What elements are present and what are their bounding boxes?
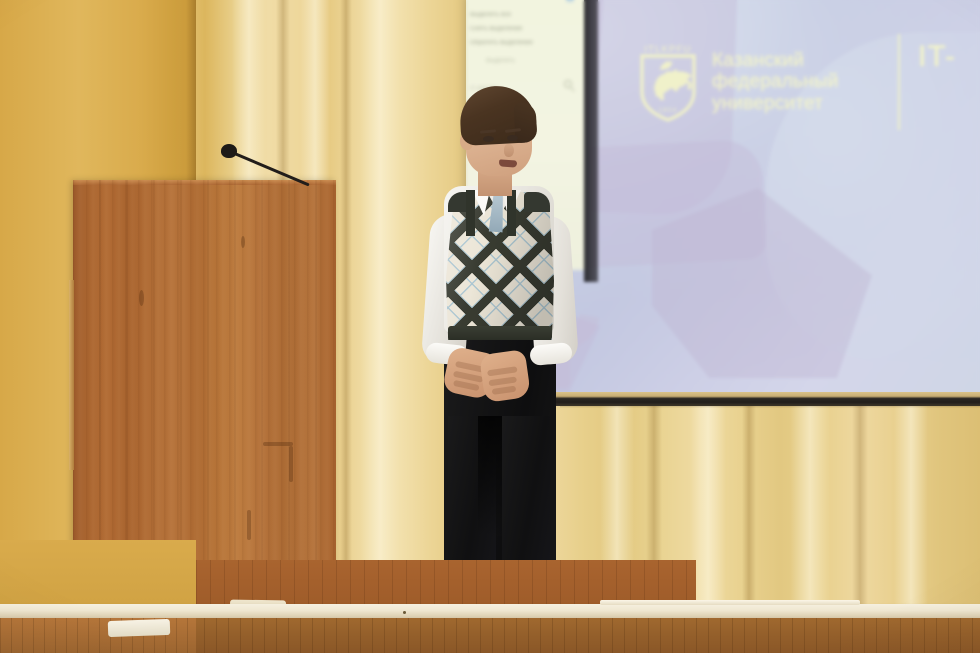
logo-divider-rule xyxy=(898,34,900,130)
kfu-winged-leopard-shield-icon: ITLKPFU 1804 xyxy=(638,42,698,122)
kfu-logo-lockup: ITLKPFU 1804 Казанский федеральный униве… xyxy=(638,42,839,122)
svg-text:ITLKPFU: ITLKPFU xyxy=(644,44,691,55)
trouser-shadow xyxy=(478,416,502,536)
slide-secondary-text: IT- xyxy=(918,40,956,74)
right-shirt-cuff xyxy=(529,342,573,366)
menu-item-invert-selection: Обратить выделение xyxy=(470,40,533,46)
menu-item-select-disabled: Выделить xyxy=(486,58,515,64)
menu-item-deselect: Снять выделение xyxy=(470,26,522,32)
rail-screw xyxy=(403,611,406,614)
young-presenter xyxy=(404,86,594,632)
kfu-name-line-3: университет xyxy=(712,93,839,115)
menu-item-select-all: Выделить все xyxy=(470,12,511,18)
circle-badge-icon xyxy=(564,0,576,2)
microphone-stem xyxy=(229,150,309,186)
finger xyxy=(492,386,517,395)
podium-wood-knot xyxy=(289,446,293,482)
kfu-name-line-1: Казанский xyxy=(712,50,839,72)
podium-wood-knot xyxy=(247,510,251,540)
podium-wood-knot xyxy=(139,290,144,306)
kfu-name-line-2: федеральный xyxy=(712,71,839,93)
floor-object xyxy=(108,619,171,637)
finger xyxy=(488,376,517,386)
vest-hem xyxy=(448,326,552,340)
eye-left xyxy=(483,136,494,142)
gooseneck-microphone xyxy=(216,140,336,188)
mouth xyxy=(499,159,517,167)
hair xyxy=(459,84,538,146)
right-hand xyxy=(479,349,531,403)
eye-right xyxy=(507,135,518,141)
podium-side-trim xyxy=(69,280,74,470)
podium-wood-knot xyxy=(263,442,293,446)
screen-bottom-shadow xyxy=(560,404,980,408)
podium-wood-knot xyxy=(241,236,245,248)
microphone-head xyxy=(221,144,237,158)
svg-text:1804: 1804 xyxy=(659,108,678,114)
photo-scene: Выделить все Снять выделение Обратить вы… xyxy=(0,0,980,653)
finger xyxy=(487,366,518,376)
nose xyxy=(504,144,514,157)
kfu-university-name: Казанский федеральный университет xyxy=(712,50,839,115)
